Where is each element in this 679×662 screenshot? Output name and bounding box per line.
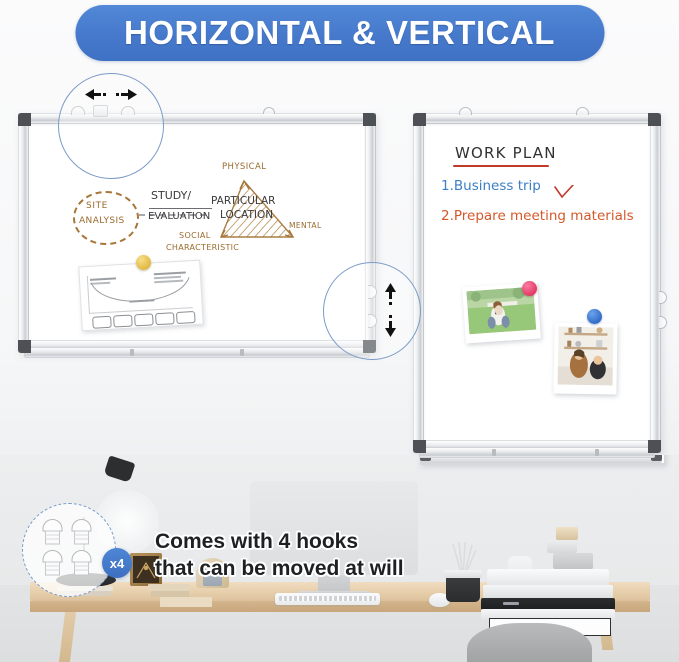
board-title: WORK PLAN: [455, 144, 557, 162]
diagram-right-label-line2: LOCATION: [220, 209, 273, 221]
desk-lifestyle-scene: x4 Comes with 4 hooks that can be moved …: [0, 455, 679, 662]
stacked-box: [553, 553, 593, 569]
magnet-pink[interactable]: [522, 281, 537, 296]
hook-icon: [70, 550, 93, 583]
checkmark-icon: [554, 185, 574, 201]
printer-label: [503, 602, 519, 605]
frame-corner-bottom-left: [413, 440, 426, 453]
board-title-underline: [453, 165, 549, 167]
vertical-whiteboard[interactable]: WORK PLAN 1.Business trip 2.Prepare meet…: [413, 113, 661, 453]
wall-hook-icon[interactable]: [459, 107, 472, 115]
frame-rail-right: [650, 113, 661, 453]
frame-corner-top-right: [363, 113, 376, 126]
frame-corner-top-right: [648, 113, 661, 126]
tray-notch: [130, 349, 134, 356]
product-feature-image: HORIZONTAL & VERTICAL SITE ANALYSIS STU: [0, 0, 679, 662]
frame-corner-bottom-right: [648, 440, 661, 453]
quantity-badge: x4: [102, 548, 132, 578]
diagram-label-physical: PHYSICAL: [222, 162, 266, 172]
hook-icon: [70, 519, 93, 552]
header-banner: HORIZONTAL & VERTICAL: [75, 5, 604, 61]
hook-icon: [41, 550, 64, 583]
diagram-label-characteristic: CHARACTERISTIC: [166, 243, 239, 252]
wall-hook-icon[interactable]: [263, 107, 275, 114]
feature-text-line1: Comes with 4 hooks: [155, 528, 358, 555]
frame-corner-top-left: [18, 113, 31, 126]
vertical-arrows-icon: [384, 283, 397, 337]
printer-mid: [483, 585, 613, 599]
stacked-box: [547, 540, 577, 553]
diagram-right-label-line1: PARTICULAR: [211, 195, 275, 207]
board-writing-surface[interactable]: [423, 123, 651, 441]
photo-indoor-shelf[interactable]: [553, 322, 617, 394]
diagram-label-social: SOCIAL: [179, 231, 211, 240]
feature-text-line2: that can be moved at will: [155, 555, 404, 582]
pinned-chart-paper[interactable]: [78, 260, 203, 332]
magnet-blue[interactable]: [587, 309, 602, 324]
work-plan-item-1: 1.Business trip: [441, 178, 541, 194]
pen-tray: [419, 447, 655, 458]
diagram-mid-label-line1: STUDY/: [151, 189, 191, 202]
diagram-node-label-line1: SITE: [86, 201, 108, 211]
keyboard: [275, 593, 380, 605]
hook-icon: [41, 519, 64, 552]
frame-rail-top: [413, 113, 661, 124]
frame-rail-left: [413, 113, 424, 453]
office-chair: [467, 623, 592, 662]
book: [148, 584, 190, 591]
banner-title: HORIZONTAL & VERTICAL: [124, 14, 555, 52]
frame-rail-left: [18, 113, 29, 353]
diagram-label-mental: MENTAL: [289, 221, 322, 230]
diagram-mid-label-line2: EVALUATION: [148, 211, 210, 222]
diagram-node-label-line2: ANALYSIS: [79, 216, 125, 226]
tray-notch: [240, 349, 244, 356]
horizontal-arrows-icon: [85, 88, 137, 101]
work-plan-item-2: 2.Prepare meeting materials: [441, 208, 634, 224]
wall-hook-icon[interactable]: [576, 107, 589, 115]
magnet-yellow[interactable]: [136, 255, 151, 270]
hooks-feature-circle: [22, 503, 116, 597]
diffuser-pot-rim: [444, 570, 482, 578]
frame-corner-top-left: [413, 113, 426, 126]
diagram-mid-underline: [149, 208, 212, 209]
frame-corner-bottom-left: [18, 340, 31, 353]
pen-tray: [24, 347, 370, 358]
keyboard-keys: [279, 596, 376, 601]
diffuser-pot: [446, 574, 480, 602]
vertical-mount-callout: [323, 262, 421, 360]
book: [160, 597, 212, 607]
stacked-box: [556, 527, 578, 540]
